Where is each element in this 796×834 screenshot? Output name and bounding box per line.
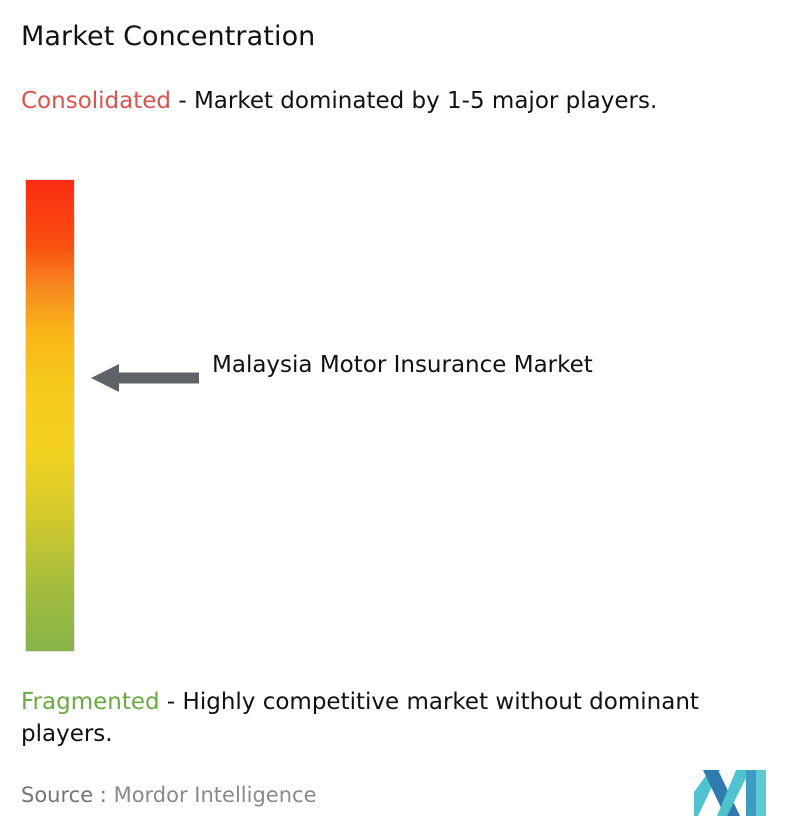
- mordor-intelligence-logo: [694, 770, 766, 816]
- fragmented-separator: -: [160, 689, 183, 715]
- consolidated-separator: -: [171, 88, 194, 114]
- mordor-intelligence-logo-glyph: [694, 770, 766, 816]
- source-value: Mordor Intelligence: [114, 783, 317, 807]
- fragmented-keyword: Fragmented: [21, 689, 160, 715]
- consolidated-keyword: Consolidated: [21, 88, 171, 114]
- market-concentration-gradient-bar: [26, 180, 74, 651]
- source-attribution: Source : Mordor Intelligence: [21, 781, 316, 809]
- source-label: Source :: [21, 783, 107, 807]
- consolidated-legend-text: Consolidated - Market dominated by 1-5 m…: [21, 85, 777, 117]
- fragmented-legend-text: Fragmented - Highly competitive market w…: [21, 686, 791, 750]
- left-arrow-icon: [91, 361, 199, 395]
- market-callout-label: Malaysia Motor Insurance Market: [212, 348, 642, 382]
- page-title: Market Concentration: [21, 20, 315, 54]
- left-arrow-glyph: [91, 361, 199, 395]
- consolidated-description: Market dominated by 1-5 major players.: [194, 88, 657, 114]
